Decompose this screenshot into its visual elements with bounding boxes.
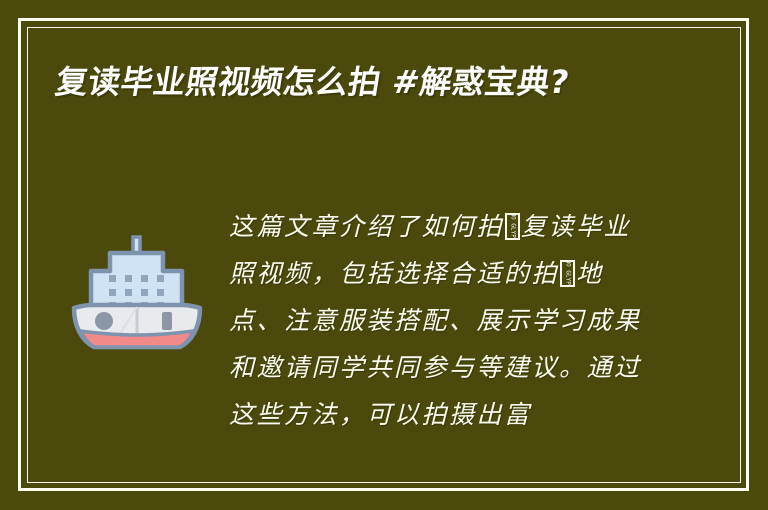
article-summary-text: 这篇文章介绍了如何拍NO GLYPH复读毕业照视频，包括选择合适的拍NO GLY… <box>229 203 654 438</box>
missing-glyph-label: NO GLYPH <box>509 213 516 240</box>
missing-glyph-label: NO GLYPH <box>564 260 571 287</box>
missing-glyph-box: NO GLYPH <box>560 260 575 287</box>
summary-text-run-0: 这篇文章介绍了如何拍 <box>229 212 504 241</box>
missing-glyph-box: NO GLYPH <box>505 213 520 240</box>
page-title: 复读毕业照视频怎么拍 #解惑宝典? <box>52 58 700 106</box>
poster-canvas: 复读毕业照视频怎么拍 #解惑宝典? <box>0 0 768 510</box>
cruise-ship-icon <box>62 215 212 355</box>
